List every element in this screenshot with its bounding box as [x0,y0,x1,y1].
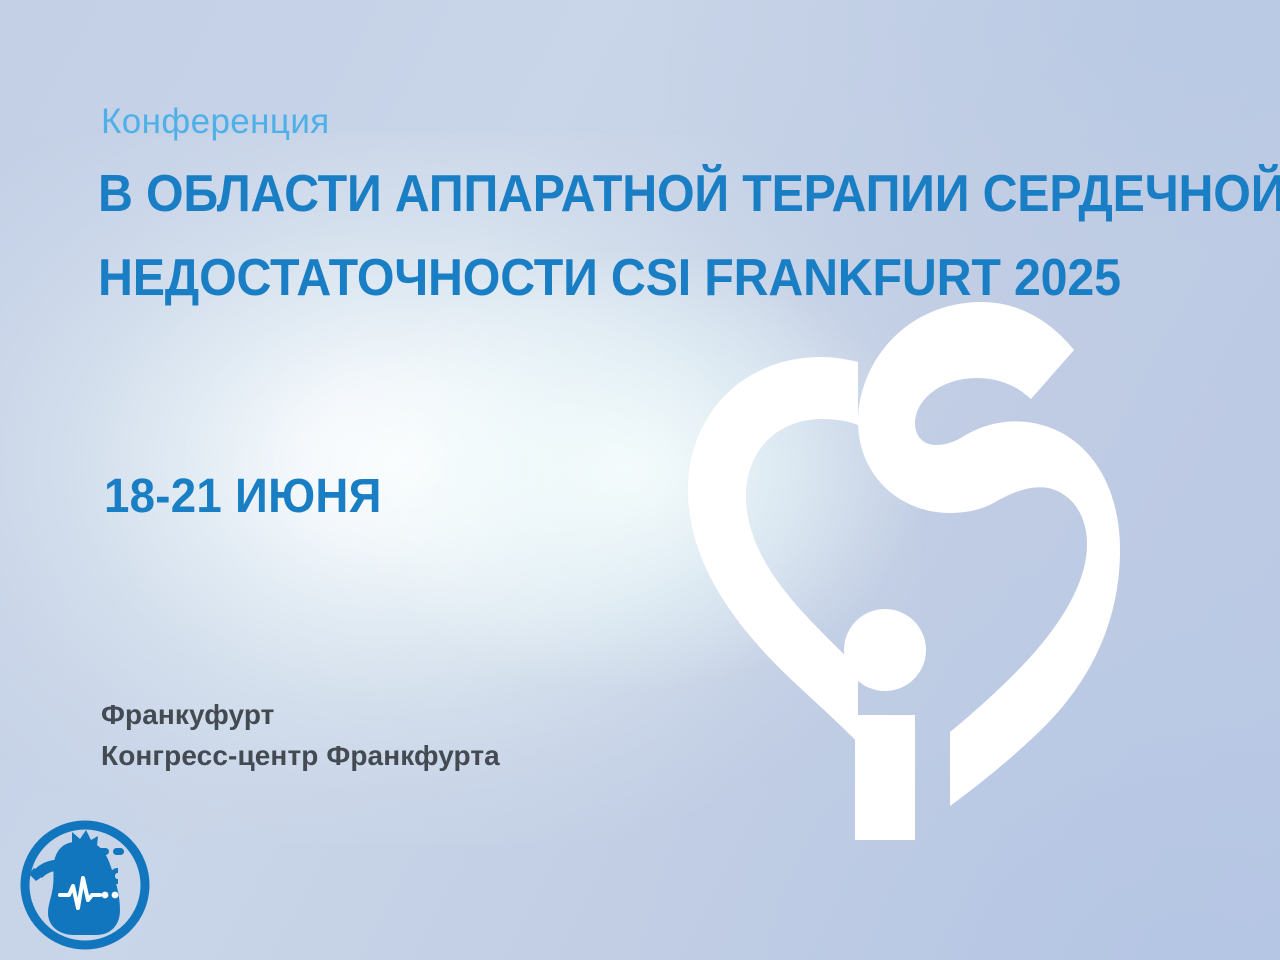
headline-line-1: В ОБЛАСТИ АППАРАТНОЙ ТЕРАПИИ СЕРДЕЧНОЙ [98,152,1028,236]
eyebrow-label: Конференция [101,104,330,139]
headline-line-2: НЕДОСТАТОЧНОСТИ CSI FRANKFURT 2025 [98,236,1028,320]
cardiology-heart-ecg-logo-icon [12,812,158,958]
conference-poster: Конференция В ОБЛАСТИ АППАРАТНОЙ ТЕРАПИИ… [0,0,1280,960]
poster-content: Конференция В ОБЛАСТИ АППАРАТНОЙ ТЕРАПИИ… [0,0,1280,960]
venue-city: Франкуфурт [101,694,500,735]
venue-location: Конгресс-центр Франкфурта [101,735,500,776]
event-date: 18-21 ИЮНЯ [104,473,382,521]
event-venue: Франкуфурт Конгресс-центр Франкфурта [101,694,500,776]
page-title: В ОБЛАСТИ АППАРАТНОЙ ТЕРАПИИ СЕРДЕЧНОЙ Н… [98,152,1098,320]
